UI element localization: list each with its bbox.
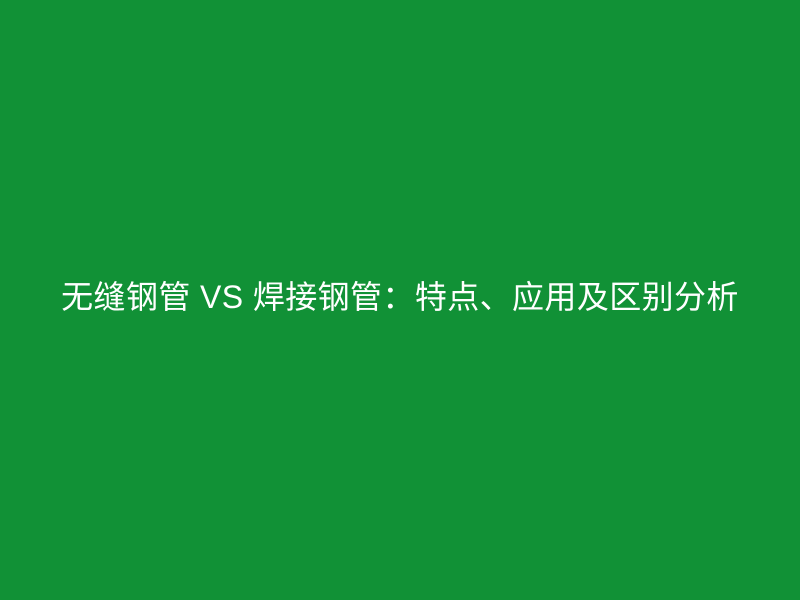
title-container: 无缝钢管 VS 焊接钢管：特点、应用及区别分析 [0, 0, 800, 600]
title-banner: 无缝钢管 VS 焊接钢管：特点、应用及区别分析 [0, 0, 800, 600]
banner-title: 无缝钢管 VS 焊接钢管：特点、应用及区别分析 [0, 277, 800, 317]
